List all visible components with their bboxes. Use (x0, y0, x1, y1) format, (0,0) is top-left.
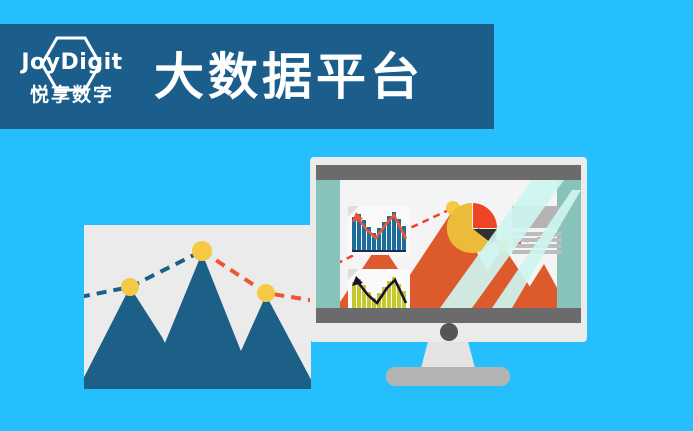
monitor-bezel-bottom (316, 308, 581, 323)
folded-corner-icon (348, 206, 359, 217)
page-title: 大数据平台 (154, 52, 424, 102)
pie-slice-red (473, 203, 497, 228)
left-mountain-chart (84, 225, 311, 389)
brand-logo: JoyDigit 悦享数字 (14, 34, 130, 120)
widget-bar-chart-blue[interactable] (348, 206, 410, 255)
screen-side-band-left (316, 180, 340, 308)
folded-corner-icon (348, 269, 359, 280)
text-block-line (512, 238, 562, 242)
data-marker (192, 241, 212, 261)
data-marker (257, 284, 275, 302)
widget-bar-chart-olive[interactable] (348, 269, 410, 308)
poster-stage: JoyDigit 悦享数字 大数据平台 (0, 0, 693, 431)
axis-line (352, 250, 406, 252)
text-block-line (512, 250, 562, 254)
widget-text-block[interactable] (512, 206, 562, 251)
monitor-power-button[interactable] (440, 323, 458, 341)
data-marker (497, 240, 510, 253)
text-block-line (512, 244, 562, 248)
widget-pie-chart[interactable] (446, 202, 498, 254)
text-block-line (512, 232, 562, 236)
text-block-image (512, 206, 562, 228)
desktop-monitor (310, 157, 587, 342)
trend-line-navy (84, 251, 202, 297)
monitor-screen (316, 180, 581, 308)
monitor-bezel-top (316, 165, 581, 180)
trend-line-orange (202, 251, 311, 301)
left-mountain-panel (84, 225, 311, 389)
logo-wordmark: JoyDigit (21, 52, 122, 74)
logo-subtitle: 悦享数字 (30, 86, 114, 105)
data-marker (121, 278, 139, 296)
header-banner: JoyDigit 悦享数字 大数据平台 (0, 24, 494, 129)
monitor-stand-base (386, 367, 510, 386)
